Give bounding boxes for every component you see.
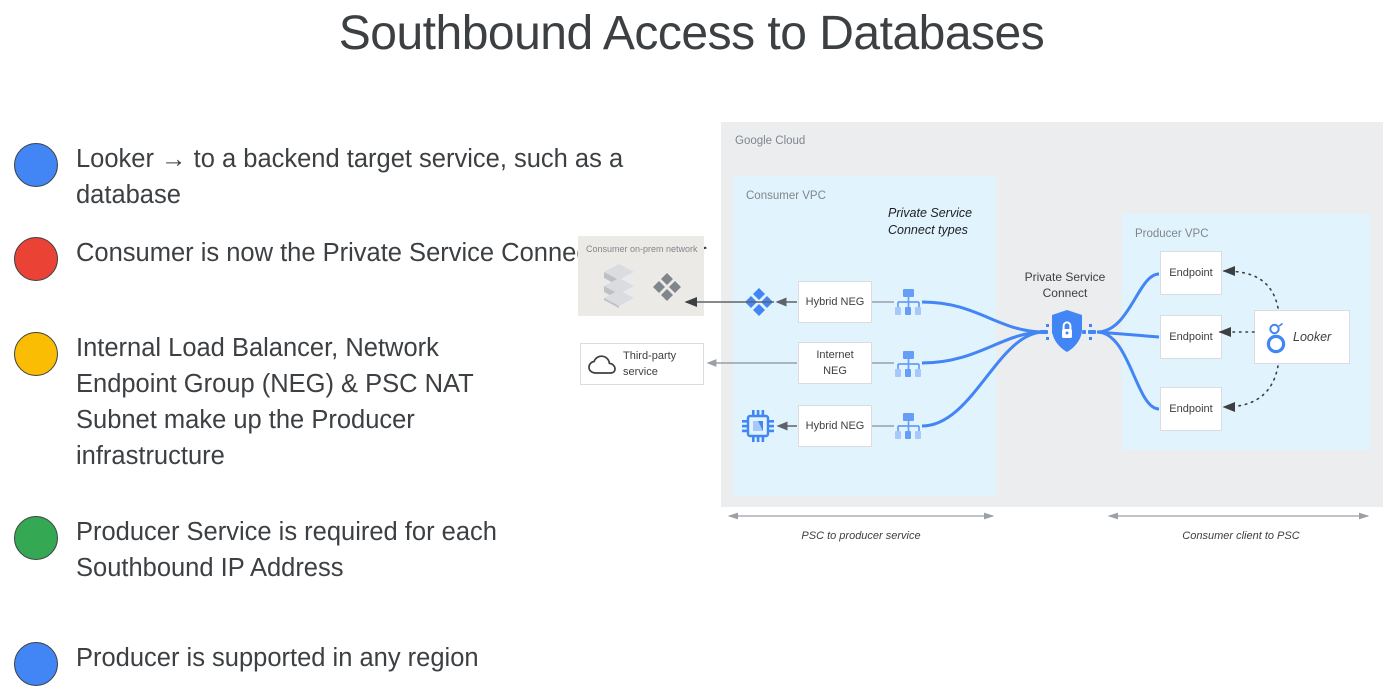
chip-icon (742, 410, 774, 442)
bullet-text: Internal Load Balancer, Network Endpoint… (76, 330, 546, 474)
diagram-connectors (578, 118, 1378, 563)
bullet-dot-yellow (14, 332, 58, 376)
bullet-dot-blue (14, 143, 58, 187)
measure-label-right: Consumer client to PSC (1106, 530, 1376, 542)
page-title: Southbound Access to Databases (0, 2, 1383, 66)
bullet-dot-red (14, 237, 58, 281)
bullet-text: Producer is supported in any region (76, 640, 676, 676)
measure-label-left: PSC to producer service (726, 530, 996, 542)
bullet-dot-blue-2 (14, 642, 58, 686)
bullet-text: Producer Service is required for each So… (76, 514, 636, 586)
bullet-dot-green (14, 516, 58, 560)
psc-connector-right (1082, 324, 1096, 340)
slide-canvas: Southbound Access to Databases Looker → … (0, 0, 1383, 688)
architecture-diagram: Google Cloud Consumer VPC Producer VPC C… (578, 118, 1378, 563)
shield-lock-icon (1052, 310, 1082, 352)
